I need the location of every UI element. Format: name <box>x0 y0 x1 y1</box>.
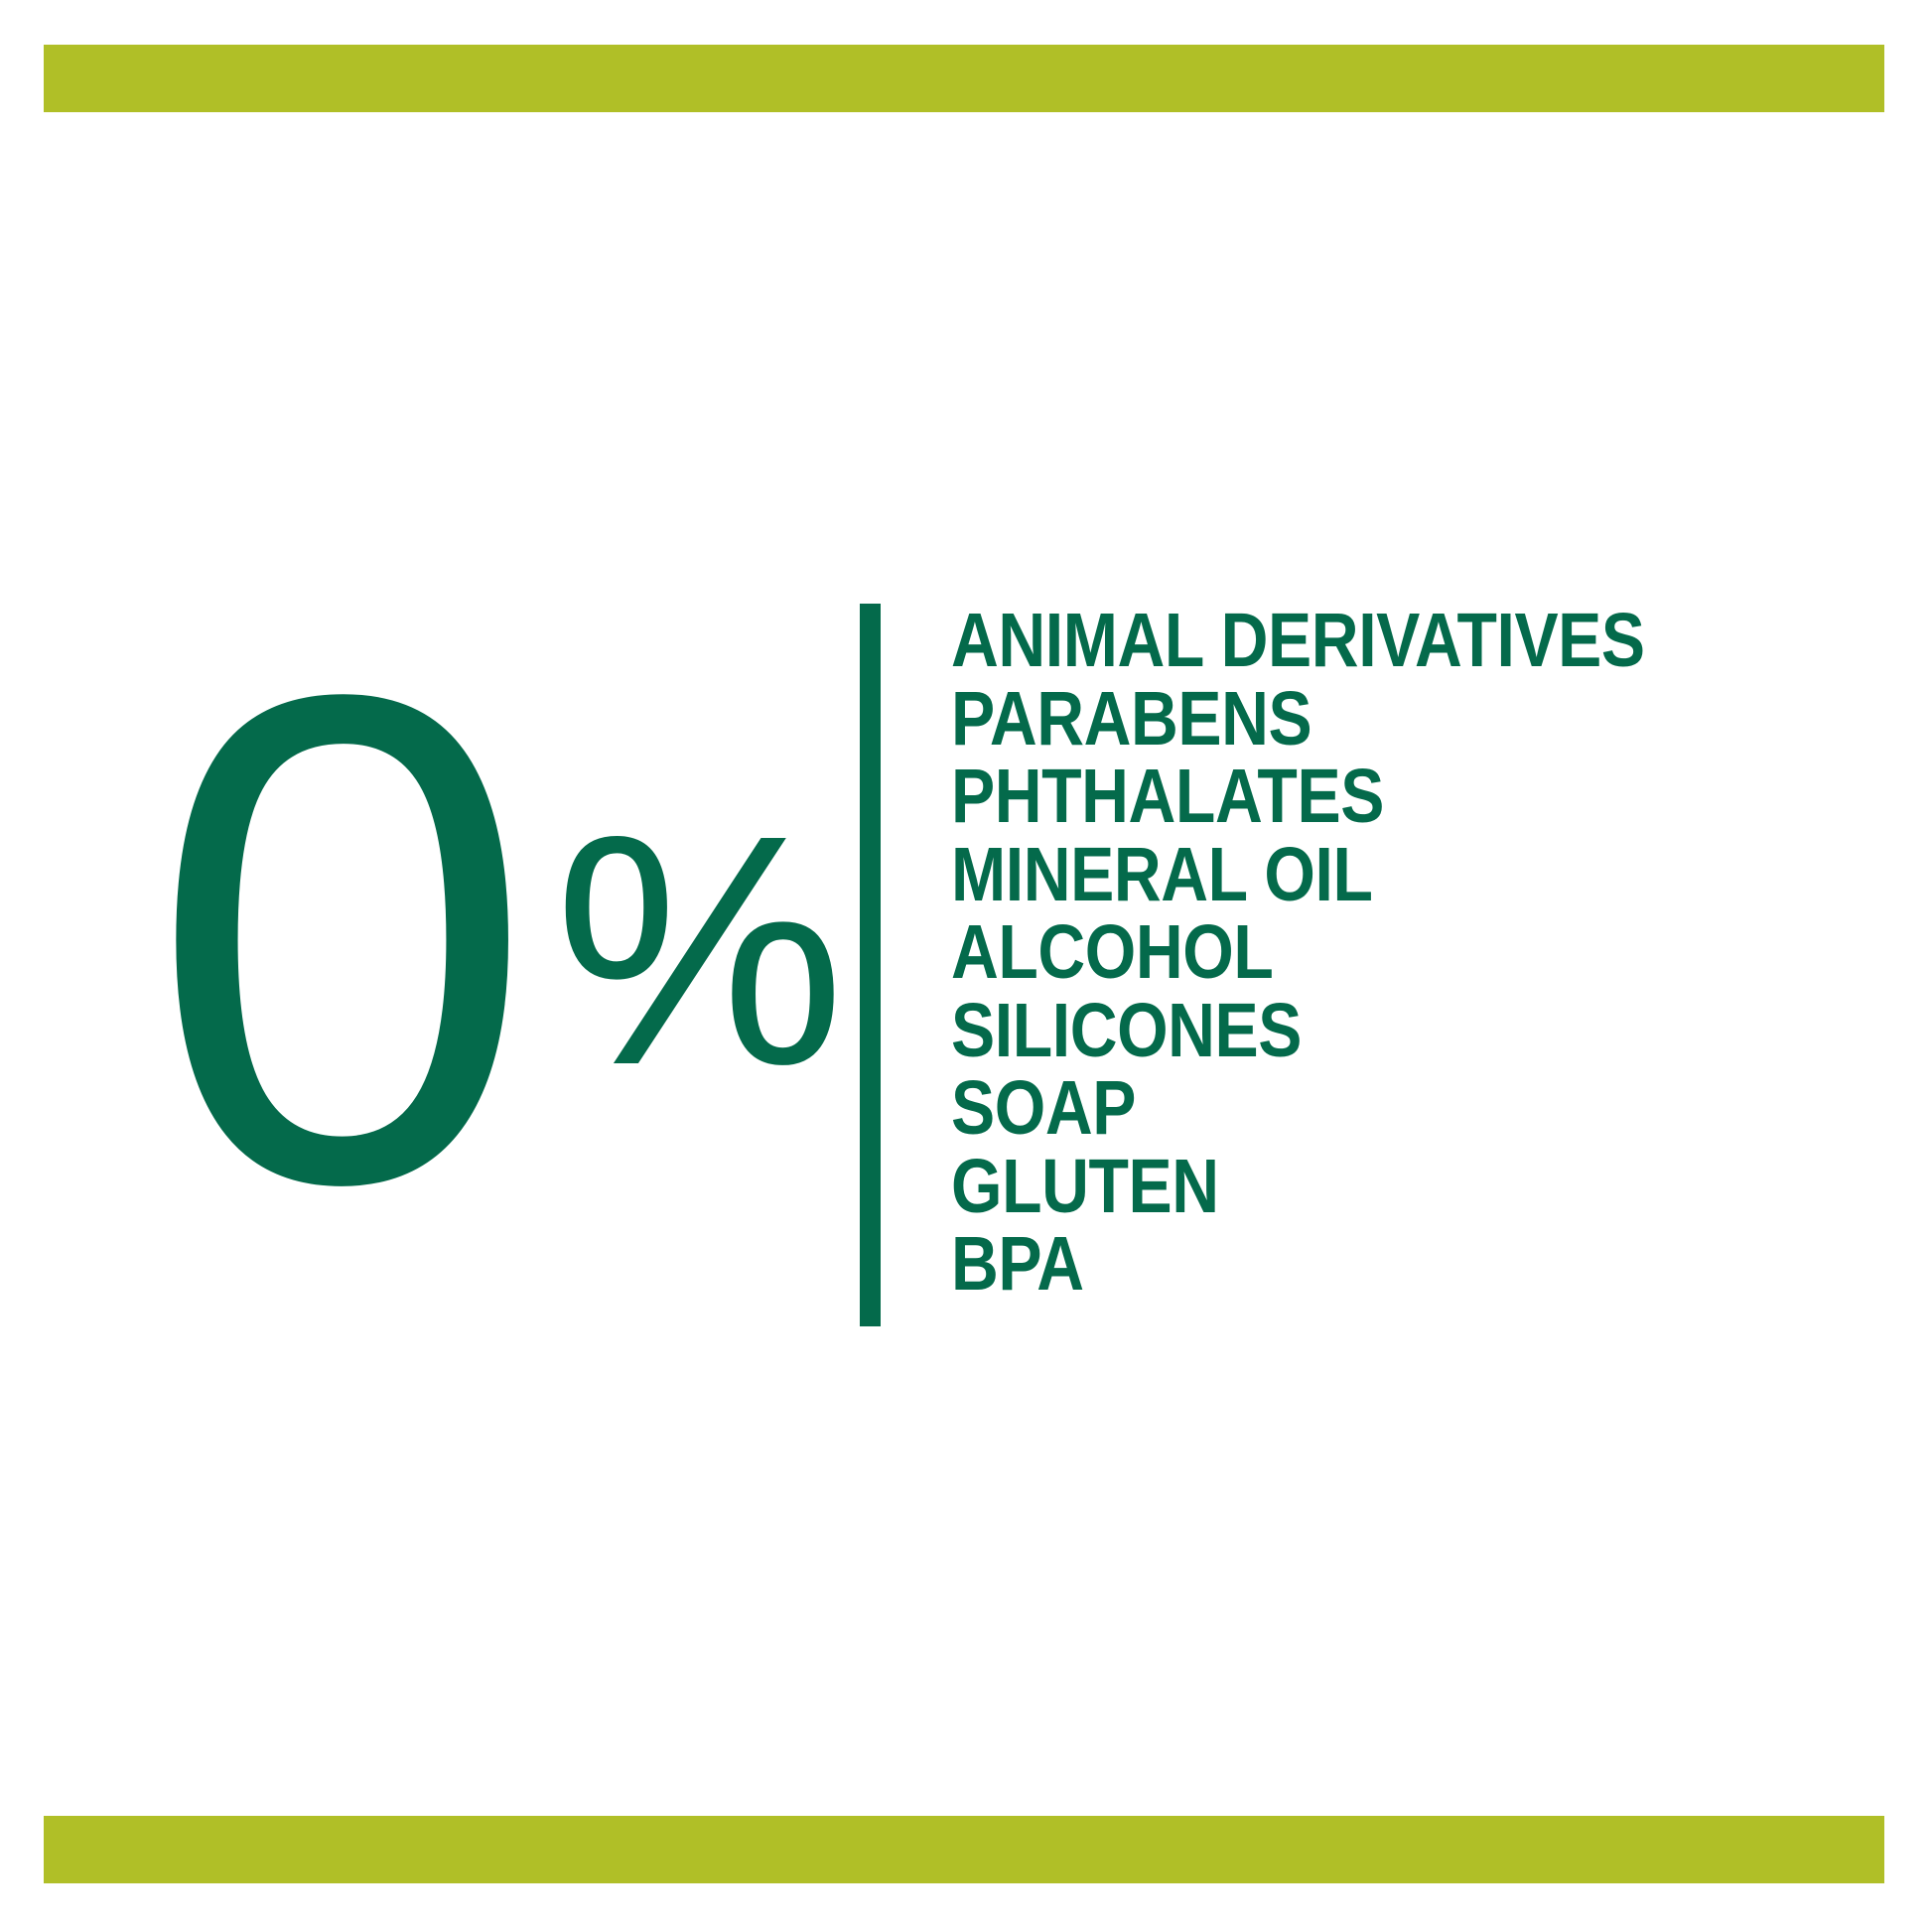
list-item: GLUTEN <box>951 1148 1703 1226</box>
list-item: ANIMAL DERIVATIVES <box>951 602 1703 680</box>
list-item: SOAP <box>951 1069 1703 1148</box>
list-item: PARABENS <box>951 680 1703 759</box>
list-item: MINERAL OIL <box>951 836 1703 914</box>
zero-percent-headline: 0 % <box>149 592 824 1227</box>
free-from-composition: 0 % ANIMAL DERIVATIVES PARABENS PHTHALAT… <box>0 0 1932 1932</box>
infographic-canvas: 0 % ANIMAL DERIVATIVES PARABENS PHTHALAT… <box>0 0 1932 1932</box>
list-item: BPA <box>951 1225 1703 1304</box>
list-item: PHTHALATES <box>951 758 1703 836</box>
list-item: SILICONES <box>951 992 1703 1070</box>
zero-digit: 0 <box>149 592 529 1287</box>
bottom-accent-bar <box>44 1816 1884 1883</box>
free-from-list: ANIMAL DERIVATIVES PARABENS PHTHALATES M… <box>951 602 1825 1304</box>
list-item: ALCOHOL <box>951 913 1703 992</box>
vertical-divider <box>860 604 881 1326</box>
percent-sign: % <box>554 786 845 1114</box>
